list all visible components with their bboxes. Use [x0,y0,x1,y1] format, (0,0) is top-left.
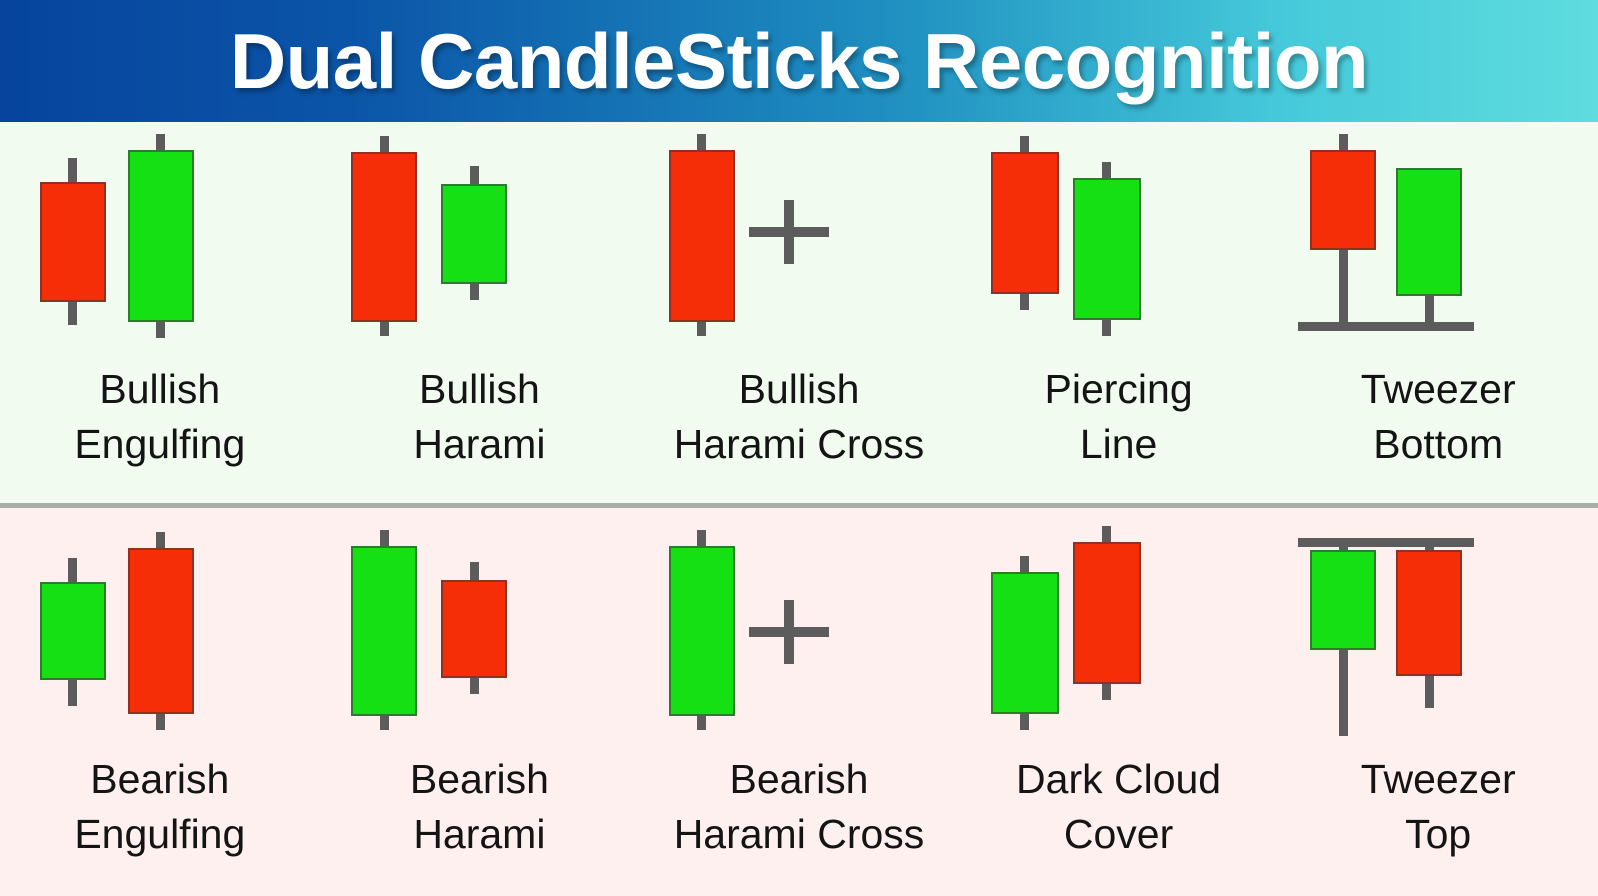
pattern-label-line1: Dark Cloud [1016,756,1221,802]
candle-body-up [991,572,1059,714]
doji-cross-horizontal [749,627,829,637]
bullish-pattern-row: BullishEngulfingBullishHaramiBullishHara… [0,122,1598,503]
pattern-label-bullish-harami-cross: BullishHarami Cross [674,362,925,471]
pattern-label-bearish-engulfing: BearishEngulfing [74,752,245,861]
pattern-label-line2: Cover [1016,807,1221,862]
doji-cross-horizontal [749,227,829,237]
candlestick-chart-tweezer-bottom [1288,130,1588,348]
candle-body-up [128,150,194,322]
bearish-pattern-row: BearishEngulfingBearishHaramiBearishHara… [0,508,1598,896]
pattern-label-bearish-harami-cross: BearishHarami Cross [674,752,925,861]
pattern-label-line1: Bullish [99,366,220,412]
pattern-label-bullish-harami: BullishHarami [413,362,545,471]
candlestick-chart-bullish-harami-cross [649,130,949,348]
pattern-label-line2: Engulfing [74,807,245,862]
candlestick-chart-bearish-harami [329,520,629,738]
candlestick-chart-bearish-harami-cross [649,520,949,738]
candle-body-up [441,184,507,284]
pattern-label-line2: Top [1361,807,1516,862]
pattern-cell-piercing-line: PiercingLine [969,122,1269,503]
candlestick-chart-piercing-line [969,130,1269,348]
pattern-label-line1: Piercing [1045,366,1193,412]
pattern-label-bearish-harami: BearishHarami [410,752,549,861]
candle-body-down [1396,550,1462,676]
candle-body-up [669,546,735,716]
pattern-label-line2: Harami Cross [674,807,925,862]
pattern-label-dark-cloud-cover: Dark CloudCover [1016,752,1221,861]
candlestick-chart-bearish-engulfing [10,520,310,738]
pattern-label-line1: Bearish [729,756,868,802]
candle-body-up [1073,178,1141,320]
tweezer-level-line [1298,538,1474,547]
candle-body-down [441,580,507,678]
page-title: Dual CandleSticks Recognition [0,0,1598,122]
pattern-cell-bullish-engulfing: BullishEngulfing [10,122,310,503]
pattern-label-line2: Bottom [1361,417,1516,472]
pattern-cell-bearish-engulfing: BearishEngulfing [10,508,310,896]
header-banner: Dual CandleSticks Recognition [0,0,1598,122]
pattern-label-line1: Bearish [410,756,549,802]
candlestick-chart-bullish-harami [329,130,629,348]
pattern-label-tweezer-top: TweezerTop [1361,752,1516,861]
pattern-cell-bullish-harami-cross: BullishHarami Cross [649,122,949,503]
bullish-panel: BullishEngulfingBullishHaramiBullishHara… [0,122,1598,503]
candlestick-chart-tweezer-top [1288,520,1588,738]
candle-body-down [669,150,735,322]
pattern-cell-bearish-harami: BearishHarami [329,508,629,896]
candle-body-down [40,182,106,302]
candlestick-chart-dark-cloud-cover [969,520,1269,738]
pattern-cell-dark-cloud-cover: Dark CloudCover [969,508,1269,896]
pattern-label-line2: Line [1045,417,1193,472]
pattern-label-line2: Harami Cross [674,417,925,472]
infographic-canvas: Dual CandleSticks Recognition BullishEng… [0,0,1598,896]
pattern-label-line1: Tweezer [1361,366,1516,412]
pattern-label-line1: Bullish [419,366,540,412]
candle-body-down [351,152,417,322]
candle-body-up [40,582,106,680]
pattern-cell-tweezer-bottom: TweezerBottom [1288,122,1588,503]
candle-body-up [1310,550,1376,650]
pattern-label-line2: Harami [413,417,545,472]
pattern-label-tweezer-bottom: TweezerBottom [1361,362,1516,471]
pattern-label-piercing-line: PiercingLine [1045,362,1193,471]
candle-body-down [991,152,1059,294]
pattern-label-line1: Bullish [739,366,860,412]
pattern-label-line1: Tweezer [1361,756,1516,802]
pattern-cell-bullish-harami: BullishHarami [329,122,629,503]
candle-body-down [128,548,194,714]
pattern-label-line2: Engulfing [74,417,245,472]
pattern-cell-bearish-harami-cross: BearishHarami Cross [649,508,949,896]
candlestick-chart-bullish-engulfing [10,130,310,348]
pattern-label-bullish-engulfing: BullishEngulfing [74,362,245,471]
pattern-cell-tweezer-top: TweezerTop [1288,508,1588,896]
bearish-panel: BearishEngulfingBearishHaramiBearishHara… [0,508,1598,896]
candle-body-down [1073,542,1141,684]
candle-body-up [351,546,417,716]
candle-body-down [1310,150,1376,250]
pattern-label-line2: Harami [410,807,549,862]
pattern-label-line1: Bearish [90,756,229,802]
candle-body-up [1396,168,1462,296]
tweezer-level-line [1298,322,1474,331]
